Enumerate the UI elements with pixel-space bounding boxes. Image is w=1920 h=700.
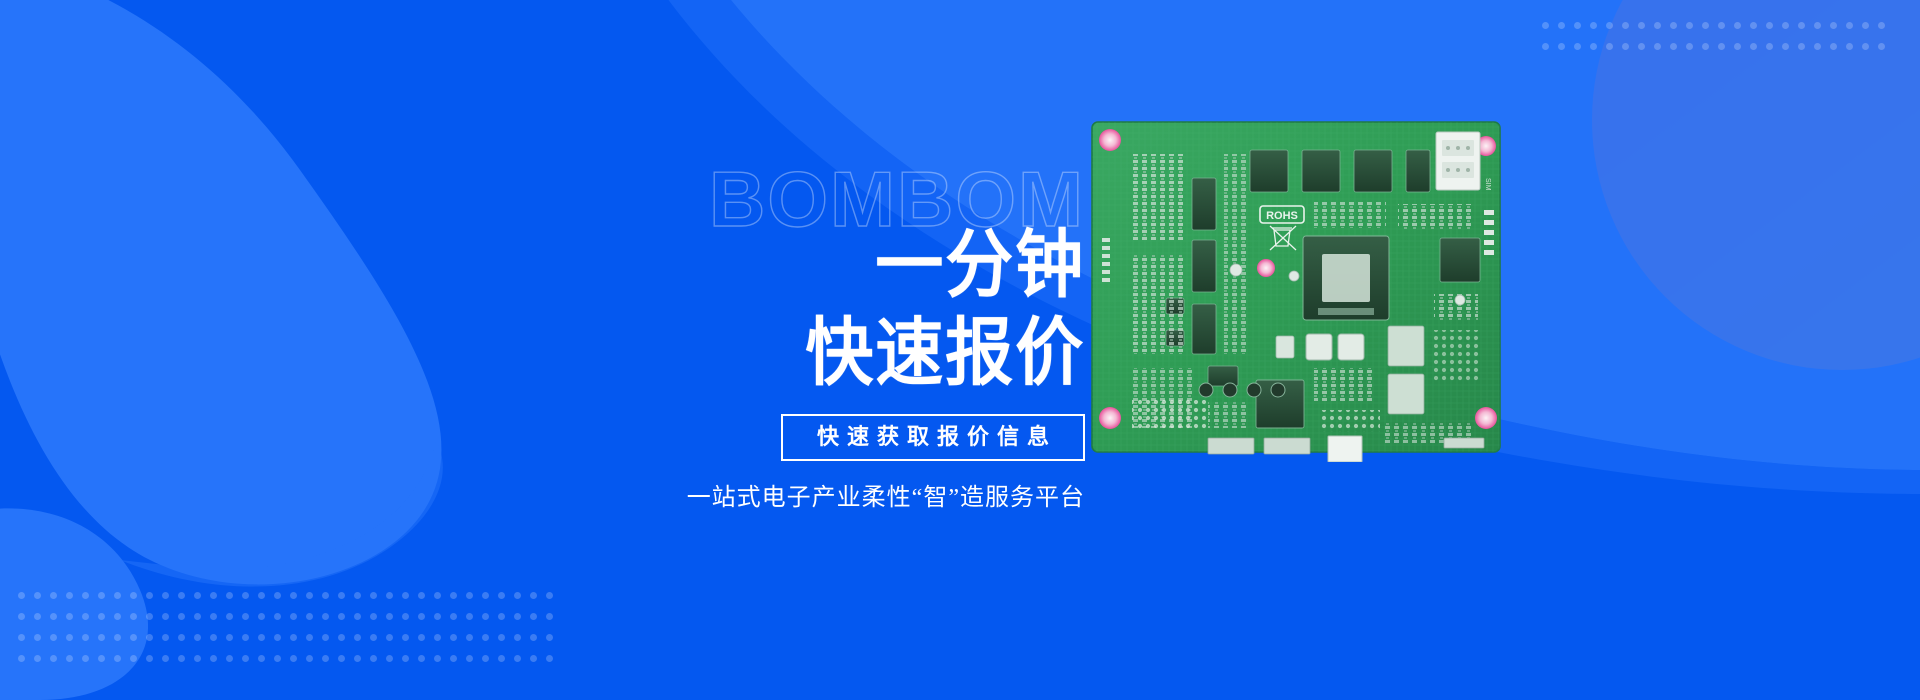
dot-row: [1542, 43, 1894, 64]
dot: [1590, 43, 1597, 50]
connector-pin: [1456, 146, 1460, 150]
dot: [1702, 22, 1709, 29]
dot: [1846, 43, 1853, 50]
flash-chip: [1406, 150, 1430, 192]
sim-label: SIM: [1484, 178, 1491, 191]
connector-pin: [1446, 146, 1450, 150]
dot: [1542, 43, 1549, 50]
dot: [1862, 22, 1869, 29]
dot: [1574, 43, 1581, 50]
capacitor: [1276, 336, 1294, 358]
smd-cluster: [1208, 402, 1250, 428]
promo-banner: BOMBOM 一分钟 快速报价 快速获取报价信息 一站式电子产业柔性“智”造服务…: [0, 0, 1920, 700]
dot: [1830, 22, 1837, 29]
electrolytic-cap: [1199, 383, 1213, 397]
flash-chip: [1354, 150, 1392, 192]
dot: [1830, 43, 1837, 50]
dot: [1638, 43, 1645, 50]
mount-hole-top-left: [1099, 129, 1121, 151]
dot: [1670, 43, 1677, 50]
dot: [1846, 22, 1853, 29]
dot: [1814, 22, 1821, 29]
test-point: [1455, 295, 1465, 305]
via-field: [1320, 410, 1380, 432]
connector-pin: [1456, 168, 1460, 172]
banner-text-block: BOMBOM 一分钟 快速报价 快速获取报价信息 一站式电子产业柔性“智”造服务…: [0, 0, 1085, 700]
via-field: [1132, 400, 1210, 430]
dot: [1542, 22, 1549, 29]
dot: [1782, 22, 1789, 29]
electrolytic-cap: [1271, 383, 1285, 397]
edge-connector: [1264, 438, 1310, 454]
pin-header: [1444, 438, 1484, 448]
headline-line-1: 一分钟: [805, 228, 1085, 302]
ic-chip: [1440, 238, 1480, 282]
electrolytic-cap: [1247, 383, 1261, 397]
dot: [1798, 22, 1805, 29]
dot-row: [1542, 22, 1894, 43]
dot: [1574, 22, 1581, 29]
connector-pin: [1446, 168, 1450, 172]
dot: [1606, 43, 1613, 50]
cta-button-label: 快速获取报价信息: [809, 426, 1057, 448]
dot: [1590, 22, 1597, 29]
smd-cluster: [1132, 254, 1184, 354]
smd-cluster: [1314, 368, 1376, 402]
dot: [1606, 22, 1613, 29]
dot: [1686, 43, 1693, 50]
usb-port: [1328, 436, 1362, 462]
dot: [1654, 43, 1661, 50]
mount-hole-bottom-left: [1099, 407, 1121, 429]
dot: [1878, 22, 1885, 29]
smd-cluster: [1314, 202, 1386, 228]
memory-chip: [1192, 240, 1216, 292]
electrolytic-cap: [1223, 383, 1237, 397]
pcb-svg: SIM ROHS: [1088, 118, 1512, 462]
ic-chip: [1388, 374, 1424, 414]
dot: [1622, 43, 1629, 50]
soic-chip: [1208, 366, 1238, 386]
dot: [1670, 22, 1677, 29]
processor-die: [1322, 254, 1370, 302]
cta-button[interactable]: 快速获取报价信息: [781, 414, 1085, 461]
flash-chip: [1250, 150, 1288, 192]
ic-chip: [1388, 326, 1424, 366]
dot: [1686, 22, 1693, 29]
headline-line-2: 快速报价: [805, 316, 1085, 390]
rohs-label: ROHS: [1266, 210, 1298, 222]
dot: [1622, 22, 1629, 29]
banner-subtitle: 一站式电子产业柔性“智”造服务平台: [687, 477, 1085, 512]
smd-cluster: [1398, 204, 1474, 230]
memory-chip: [1192, 178, 1216, 230]
smd-cluster: [1224, 154, 1246, 354]
dot: [1766, 43, 1773, 50]
dot: [1558, 22, 1565, 29]
dot: [1750, 22, 1757, 29]
memory-chip: [1192, 304, 1216, 354]
test-point: [1230, 264, 1242, 276]
dot: [1558, 43, 1565, 50]
connector-pin: [1466, 168, 1470, 172]
mount-hole-bottom-right: [1475, 407, 1497, 429]
flash-chip: [1302, 150, 1340, 192]
dot: [1718, 43, 1725, 50]
power-inductor: [1306, 334, 1332, 360]
connector-pin: [1466, 146, 1470, 150]
dot: [1878, 43, 1885, 50]
smd-cluster: [1132, 154, 1184, 240]
pcb-motherboard-image: SIM ROHS: [1088, 118, 1512, 462]
power-inductor: [1338, 334, 1364, 360]
dot: [1750, 43, 1757, 50]
test-point: [1289, 271, 1299, 281]
dot-grid-top-right: [1542, 22, 1894, 64]
processor-marking: [1318, 308, 1374, 315]
dot: [1766, 22, 1773, 29]
headline-group: 一分钟 快速报价: [781, 228, 1085, 390]
dot: [1654, 22, 1661, 29]
dot: [1814, 43, 1821, 50]
dot: [1734, 43, 1741, 50]
dot: [1702, 43, 1709, 50]
dot: [1798, 43, 1805, 50]
dot: [1734, 22, 1741, 29]
edge-connector: [1208, 438, 1254, 454]
dot: [1718, 22, 1725, 29]
dot: [1862, 43, 1869, 50]
via-field: [1434, 330, 1480, 382]
dot: [1638, 22, 1645, 29]
mount-hole-center: [1257, 259, 1275, 277]
dot: [1782, 43, 1789, 50]
